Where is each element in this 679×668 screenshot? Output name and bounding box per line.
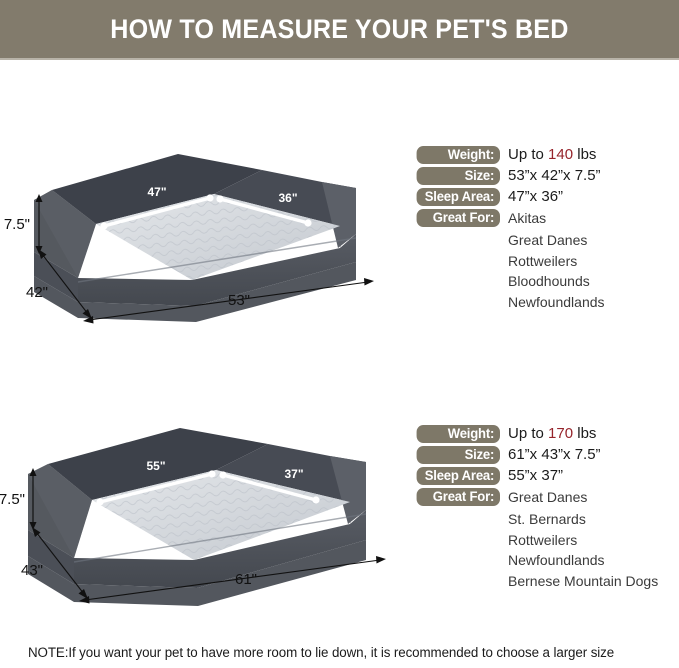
bed-diagram-xlarge: 55" 37" 7.5" 43" 61": [0, 412, 410, 612]
arrowhead2-width-right: [376, 556, 386, 564]
spec-label-size: Size:: [417, 446, 500, 464]
spec-row-sleep-area: Sleep Area: 47”x 36”: [414, 188, 676, 206]
spec-panel-large: Weight: Up to 140 lbs Size: 53”x 42”x 7.…: [414, 146, 676, 312]
label2-height: 7.5": [0, 491, 25, 508]
spec-panel-xlarge: Weight: Up to 170 lbs Size: 61”x 43”x 7.…: [414, 425, 676, 591]
breed-item: Bernese Mountain Dogs: [508, 571, 676, 592]
label-width: 53": [228, 292, 250, 309]
weight-suffix: lbs: [573, 425, 596, 442]
weight-prefix: Up to: [508, 425, 548, 442]
breed-list-large: Great Danes Rottweilers Bloodhounds Newf…: [500, 230, 676, 312]
weight-number: 170: [548, 425, 573, 442]
bed-illustration-large: 47" 36" 7.5" 42" 53": [0, 130, 410, 330]
spec-row-weight: Weight: Up to 170 lbs: [414, 425, 676, 443]
breed-list-xlarge: St. Bernards Rottweilers Newfoundlands B…: [500, 509, 676, 591]
spec-label-sleep-area: Sleep Area:: [417, 188, 500, 206]
arrowhead-width-right: [364, 278, 374, 286]
spec-value-size: 53”x 42”x 7.5”: [500, 167, 601, 185]
label-sleep-depth: 36": [278, 191, 297, 205]
measure-dot-sw-end: [206, 194, 213, 201]
spec-row-size: Size: 53”x 42”x 7.5”: [414, 167, 676, 185]
measure-dot-sw-start: [100, 222, 107, 229]
breed-item: Newfoundlands: [508, 550, 676, 571]
label2-sleep-depth: 37": [284, 467, 303, 481]
spec-row-weight: Weight: Up to 140 lbs: [414, 146, 676, 164]
measure2-dot-sd-start: [219, 471, 226, 478]
breed-item: Rottweilers: [508, 530, 676, 551]
spec-value-sleep-area: 55”x 37”: [500, 467, 563, 485]
spec-row-sleep-area: Sleep Area: 55”x 37”: [414, 467, 676, 485]
weight-prefix: Up to: [508, 146, 548, 163]
breed-item: Bloodhounds: [508, 271, 676, 292]
spec-label-sleep-area: Sleep Area:: [417, 467, 500, 485]
measure-dot-sd-start: [216, 195, 223, 202]
label2-depth: 43": [21, 562, 43, 579]
breed-item: Akitas: [500, 209, 546, 227]
spec-value-weight: Up to 140 lbs: [500, 146, 596, 164]
footer-note: NOTE:If you want your pet to have more r…: [28, 645, 614, 660]
breed-item: Great Danes: [500, 488, 587, 506]
measure2-dot-sw-start: [96, 498, 103, 505]
spec-row-size: Size: 61”x 43”x 7.5”: [414, 446, 676, 464]
spec-label-size: Size:: [417, 167, 500, 185]
spec-row-great-for: Great For: Great Danes: [414, 488, 676, 506]
page-title: HOW TO MEASURE YOUR PET'S BED: [110, 14, 568, 45]
bed-illustration-xlarge: 55" 37" 7.5" 43" 61": [0, 412, 410, 612]
label2-sleep-width: 55": [146, 459, 165, 473]
breed-item: Rottweilers: [508, 251, 676, 272]
breed-item: Newfoundlands: [508, 292, 676, 313]
header-banner: HOW TO MEASURE YOUR PET'S BED: [0, 0, 679, 60]
weight-suffix: lbs: [573, 146, 596, 163]
measure2-dot-sd-end: [312, 496, 319, 503]
spec-label-weight: Weight:: [417, 425, 500, 443]
label2-width: 61": [235, 571, 257, 588]
spec-label-great-for: Great For:: [417, 209, 500, 227]
spec-label-weight: Weight:: [417, 146, 500, 164]
breed-item: Great Danes: [508, 230, 676, 251]
measure-dot-sd-end: [304, 219, 311, 226]
breed-item: St. Bernards: [508, 509, 676, 530]
spec-value-weight: Up to 170 lbs: [500, 425, 596, 443]
spec-row-great-for: Great For: Akitas: [414, 209, 676, 227]
label-depth: 42": [26, 284, 48, 301]
weight-number: 140: [548, 146, 573, 163]
spec-value-sleep-area: 47”x 36”: [500, 188, 563, 206]
label-sleep-width: 47": [147, 185, 166, 199]
spec-label-great-for: Great For:: [417, 488, 500, 506]
measure2-dot-sw-end: [208, 470, 215, 477]
bed-diagram-large: 47" 36" 7.5" 42" 53": [0, 130, 410, 330]
spec-value-size: 61”x 43”x 7.5”: [500, 446, 601, 464]
label-height: 7.5": [4, 216, 30, 233]
